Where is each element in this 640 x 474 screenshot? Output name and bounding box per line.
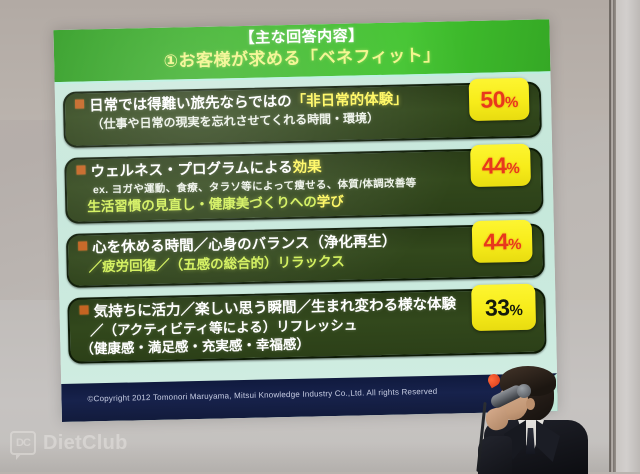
bullet-square-icon [79, 305, 88, 314]
watermark: DC DietClub [10, 428, 128, 458]
presenter-arm [478, 436, 512, 474]
percent-badge-4: 33% [471, 284, 536, 331]
presenter-figure [478, 362, 598, 472]
row2-line1-highlight: 効果 [292, 159, 321, 176]
bullet-square-icon [78, 241, 87, 250]
percent-value-3: 44% [483, 227, 521, 255]
percent-value-2: 44% [481, 151, 519, 179]
bullet-square-icon [75, 99, 84, 108]
bullet-square-icon [76, 165, 85, 174]
row1-line1-plain: 日常では得難い旅先ならではの [89, 94, 292, 114]
row2-line3-plain: 生活習慣の見直し・健康美づくりへの [87, 194, 317, 214]
row1-line1-highlight: 「非日常的体験」 [291, 91, 407, 110]
percent-badge-3: 44% [472, 220, 533, 263]
copyright-text: ©Copyright 2012 Tomonori Maruyama, Mitsu… [87, 387, 437, 404]
percent-badge-2: 44% [470, 144, 531, 187]
percent-badge-1: 50% [469, 78, 530, 121]
row2-line1-plain: ウェルネス・プログラムによる [90, 160, 292, 180]
percent-value-4: 33% [485, 293, 523, 321]
dietclub-logo-icon: DC [10, 431, 36, 455]
pillar-edge-dark [609, 0, 611, 472]
presenter-ear [526, 398, 535, 410]
microphone-head-icon [517, 384, 531, 398]
watermark-brand: DietClub [43, 432, 128, 455]
row2-line3-highlight: 学び [317, 194, 344, 210]
percent-value-1: 50% [480, 85, 518, 113]
pillar-edge [613, 0, 616, 472]
